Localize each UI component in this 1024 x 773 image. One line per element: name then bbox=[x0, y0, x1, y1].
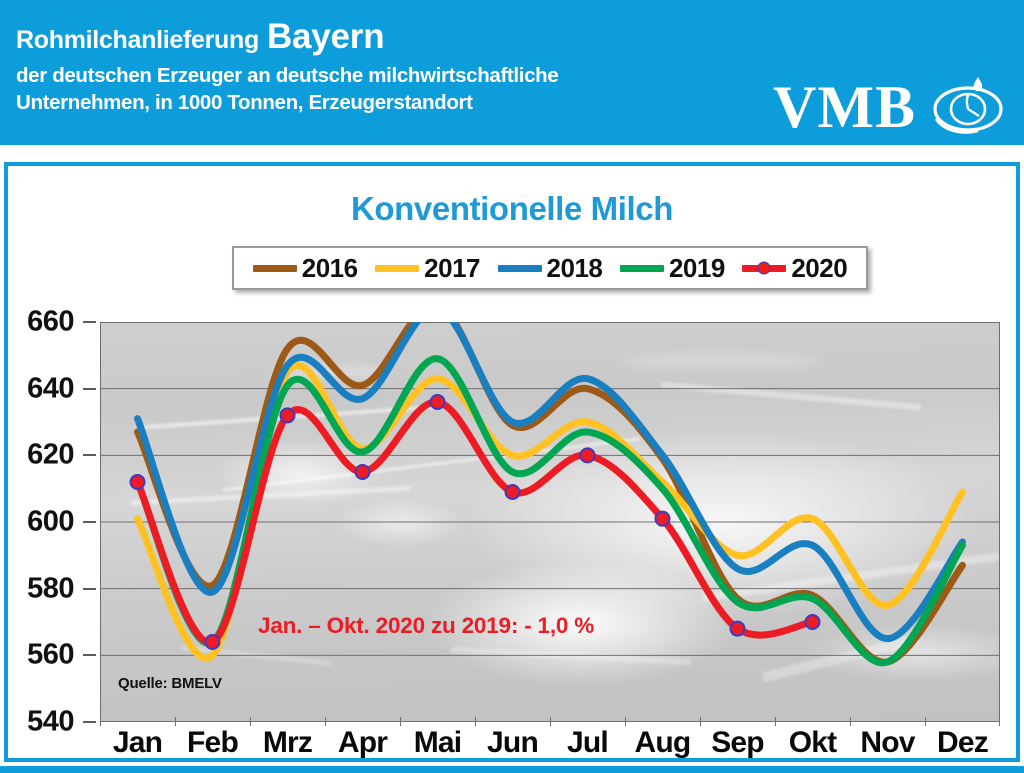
milk-drop-swirl-icon bbox=[922, 71, 1008, 140]
x-axis-tick-label: Jun bbox=[487, 726, 538, 760]
data-point-2020-Aug[interactable] bbox=[656, 512, 670, 526]
x-axis-tick-label: Mai bbox=[414, 726, 462, 760]
chart-source-label: Quelle: BMELV bbox=[118, 675, 222, 692]
header-title-prefix: Rohmilchanlieferung bbox=[16, 26, 259, 54]
x-axis-tick-mark bbox=[475, 717, 476, 726]
y-axis-tick-mark bbox=[83, 588, 96, 590]
x-axis-tick-mark bbox=[400, 717, 401, 726]
header-line-2: der deutschen Erzeuger an deutsche milch… bbox=[16, 62, 776, 89]
y-axis-tick-label: 640 bbox=[27, 372, 74, 405]
legend-swatch-2018 bbox=[498, 265, 542, 272]
legend-swatch-2020 bbox=[742, 265, 786, 272]
legend-item-2019[interactable]: 2019 bbox=[620, 253, 725, 284]
x-axis-tick-label: Aug bbox=[635, 726, 691, 760]
legend-swatch-2016 bbox=[253, 265, 297, 272]
y-axis-tick-label: 660 bbox=[27, 306, 74, 339]
y-axis-tick-label: 540 bbox=[27, 706, 74, 739]
infographic-root: RohmilchanlieferungBayern der deutschen … bbox=[0, 0, 1024, 773]
x-axis-tick-mark bbox=[850, 717, 851, 726]
legend-item-2017[interactable]: 2017 bbox=[375, 253, 480, 284]
legend-label-2017: 2017 bbox=[424, 253, 480, 284]
plot-area: VMB Verband der Milcherzeuger Bayern e.V… bbox=[100, 322, 1000, 722]
x-axis-tick-mark bbox=[175, 717, 176, 726]
banner-logo: VMB bbox=[773, 74, 1008, 140]
x-axis-tick-mark bbox=[925, 717, 926, 726]
y-axis-tick-mark bbox=[83, 454, 96, 456]
x-axis-tick-label: Sep bbox=[711, 726, 764, 760]
data-point-2020-Sep[interactable] bbox=[731, 622, 745, 636]
x-axis-tick-label: Okt bbox=[789, 726, 837, 760]
header-line-3: Unternehmen, in 1000 Tonnen, Erzeugersta… bbox=[16, 89, 776, 116]
legend-item-2016[interactable]: 2016 bbox=[253, 253, 358, 284]
chart-annotation: Jan. – Okt. 2020 zu 2019: - 1,0 % bbox=[258, 613, 594, 639]
x-axis-tick-mark bbox=[250, 717, 251, 726]
y-axis: 540560580600620640660 bbox=[0, 322, 96, 722]
banner-logo-wordmark: VMB bbox=[773, 78, 916, 136]
data-point-2020-Jul[interactable] bbox=[581, 448, 595, 462]
y-axis-tick-label: 620 bbox=[27, 439, 74, 472]
x-axis-tick-mark bbox=[625, 717, 626, 726]
y-axis-tick-mark bbox=[83, 721, 96, 723]
data-point-2020-Okt[interactable] bbox=[806, 615, 820, 629]
y-axis-tick-mark bbox=[83, 321, 96, 323]
x-axis-tick-mark bbox=[100, 717, 101, 726]
y-axis-tick-label: 560 bbox=[27, 639, 74, 672]
data-point-2020-Mai[interactable] bbox=[431, 395, 445, 409]
x-axis-tick-label: Apr bbox=[338, 726, 387, 760]
legend-item-2018[interactable]: 2018 bbox=[498, 253, 603, 284]
x-axis-tick-label: Jul bbox=[567, 726, 608, 760]
y-axis-tick-label: 600 bbox=[27, 506, 74, 539]
legend-label-2019: 2019 bbox=[669, 253, 725, 284]
legend-label-2020: 2020 bbox=[791, 253, 847, 284]
y-axis-tick-label: 580 bbox=[27, 572, 74, 605]
x-axis-tick-mark bbox=[550, 717, 551, 726]
legend-item-2020[interactable]: 2020 bbox=[742, 253, 847, 284]
header-text-block: RohmilchanlieferungBayern der deutschen … bbox=[16, 22, 776, 116]
x-axis-tick-mark bbox=[999, 717, 1000, 726]
header-line-1: RohmilchanlieferungBayern bbox=[16, 22, 776, 55]
y-axis-tick-mark bbox=[83, 654, 96, 656]
data-point-2020-Mrz[interactable] bbox=[281, 408, 295, 422]
data-point-2020-Apr[interactable] bbox=[356, 465, 370, 479]
header-title-region: Bayern bbox=[267, 17, 384, 56]
data-point-2020-Jun[interactable] bbox=[506, 485, 520, 499]
x-axis: JanFebMrzAprMaiJunJulAugSepOktNovDez bbox=[100, 726, 1000, 768]
y-axis-tick-mark bbox=[83, 521, 96, 523]
x-axis-tick-label: Dez bbox=[937, 726, 988, 760]
x-axis-tick-mark bbox=[325, 717, 326, 726]
header-banner: RohmilchanlieferungBayern der deutschen … bbox=[0, 0, 1024, 145]
legend-swatch-2019 bbox=[620, 265, 664, 272]
x-axis-tick-label: Mrz bbox=[263, 726, 312, 760]
legend-label-2018: 2018 bbox=[547, 253, 603, 284]
plot-lines-svg bbox=[100, 322, 1000, 722]
x-axis-tick-label: Jan bbox=[113, 726, 162, 760]
legend-label-2016: 2016 bbox=[302, 253, 358, 284]
footer-strip bbox=[0, 766, 1024, 773]
y-axis-tick-mark bbox=[83, 388, 96, 390]
x-axis-tick-label: Nov bbox=[860, 726, 914, 760]
data-point-2020-Feb[interactable] bbox=[206, 635, 220, 649]
x-axis-tick-label: Feb bbox=[187, 726, 238, 760]
data-point-2020-Jan[interactable] bbox=[131, 475, 145, 489]
x-axis-tick-mark bbox=[775, 717, 776, 726]
chart-legend: 20162017201820192020 bbox=[232, 246, 868, 290]
legend-swatch-2017 bbox=[375, 265, 419, 272]
x-axis-tick-mark bbox=[700, 717, 701, 726]
chart-title: Konventionelle Milch bbox=[8, 190, 1016, 228]
